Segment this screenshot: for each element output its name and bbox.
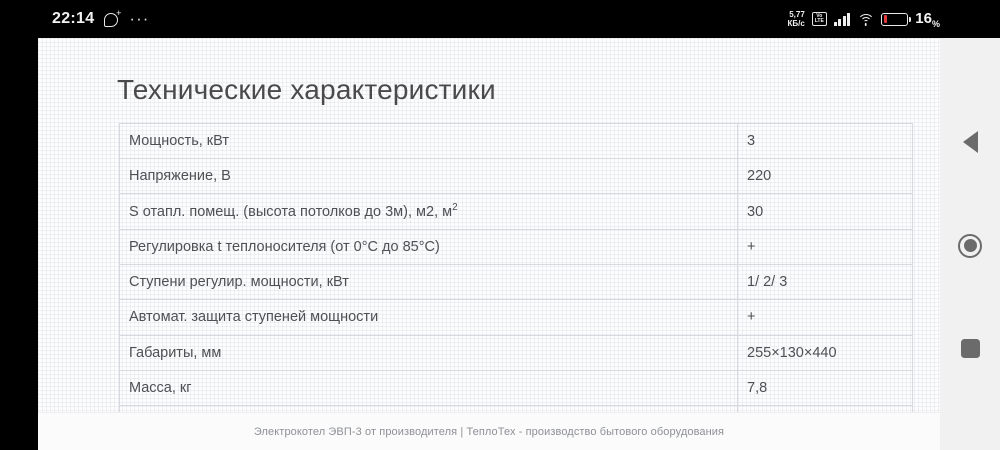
network-speed-value: 5,77 [787, 10, 804, 19]
wifi-icon [857, 13, 874, 26]
spec-key-cell: Ступени регулир. мощности, кВт [120, 265, 738, 300]
browser-content-area[interactable]: Технические характеристики Мощность, кВт… [38, 38, 940, 450]
spec-value-cell: 3 [738, 124, 913, 159]
spec-value-cell: + [738, 300, 913, 335]
site-footer: Электрокотел ЭВП-3 от производителя | Те… [38, 412, 940, 450]
table-row: Автомат. защита ступеней мощности+ [120, 300, 913, 335]
table-row: Масса, кг7,8 [120, 370, 913, 405]
article-content: Технические характеристики Мощность, кВт… [38, 38, 940, 450]
status-bar-right: 5,77 КБ/с Vo LTE 16% [787, 10, 940, 29]
spec-key-cell: Габариты, мм [120, 335, 738, 370]
table-row: S отапл. помещ. (высота потолков до 3м),… [120, 194, 913, 230]
volte-icon: Vo LTE [812, 12, 827, 26]
spec-key-cell: Регулировка t теплоносителя (от 0°С до 8… [120, 230, 738, 265]
device-screen: 22:14 + ··· 5,77 КБ/с Vo LTE 16% [0, 0, 1000, 450]
spec-value-cell: 220 [738, 159, 913, 194]
network-speed-unit: КБ/с [787, 19, 804, 28]
status-bar: 22:14 + ··· 5,77 КБ/с Vo LTE 16% [0, 0, 1000, 38]
battery-percent-label: 16% [915, 10, 940, 29]
table-row: Габариты, мм255×130×440 [120, 335, 913, 370]
home-circle-icon[interactable] [958, 234, 982, 258]
volte-label-bottom: LTE [815, 19, 824, 25]
site-footer-text: Электрокотел ЭВП-3 от производителя | Те… [254, 426, 724, 438]
table-row: Регулировка t теплоносителя (от 0°С до 8… [120, 230, 913, 265]
table-row: Ступени регулир. мощности, кВт1/ 2/ 3 [120, 265, 913, 300]
spec-value-cell: + [738, 230, 913, 265]
notification-overflow-icon: ··· [129, 14, 149, 24]
spec-value-cell: 255×130×440 [738, 335, 913, 370]
spec-value-cell: 1/ 2/ 3 [738, 265, 913, 300]
status-clock: 22:14 [52, 10, 94, 28]
spec-key-cell: Масса, кг [120, 370, 738, 405]
status-bar-left: 22:14 + ··· [52, 10, 149, 28]
android-navigation-bar [940, 38, 1000, 450]
spec-key-cell: Напряжение, В [120, 159, 738, 194]
spec-key-cell: S отапл. помещ. (высота потолков до 3м),… [120, 194, 738, 230]
whatsapp-icon: + [103, 11, 120, 28]
superscript: 2 [452, 202, 458, 213]
table-row: Напряжение, В220 [120, 159, 913, 194]
back-triangle-icon[interactable] [963, 131, 978, 153]
recents-square-icon[interactable] [961, 339, 980, 358]
table-row: Мощность, кВт3 [120, 124, 913, 159]
signal-bars-icon [834, 12, 851, 26]
battery-icon [881, 13, 908, 26]
network-speed-indicator: 5,77 КБ/с [787, 10, 804, 28]
page-title: Технические характеристики [117, 74, 910, 106]
spec-value-cell: 7,8 [738, 370, 913, 405]
spec-key-cell: Мощность, кВт [120, 124, 738, 159]
spec-value-cell: 30 [738, 194, 913, 230]
specifications-table-body: Мощность, кВт3Напряжение, В220S отапл. п… [120, 124, 913, 441]
spec-key-cell: Автомат. защита ступеней мощности [120, 300, 738, 335]
specifications-table: Мощность, кВт3Напряжение, В220S отапл. п… [119, 123, 913, 441]
